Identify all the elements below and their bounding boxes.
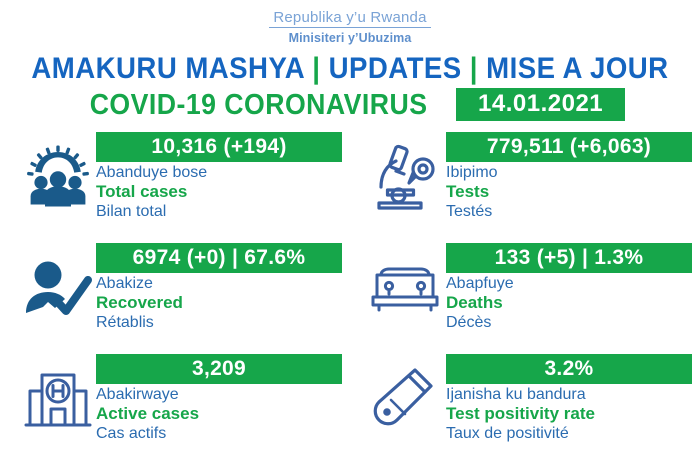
stat-text: 3.2% Ijanisha ku bandura Test positivity… [446,354,700,443]
stat-label-english: Active cases [96,404,342,424]
stat-label-kinyarwanda: Abakirwaye [96,385,342,404]
stat-label-english: Recovered [96,293,342,313]
stat-text: 10,316 (+194) Abanduye bose Total cases … [96,132,350,221]
stat-label-french: Rétablis [96,313,342,332]
stat-value: 3.2% [446,354,692,384]
stat-label-kinyarwanda: Abapfuye [446,274,692,293]
updates-title-line: AMAKURU MASHYA | UPDATES | MISE A JOUR [28,53,672,85]
subject-title: COVID-19 CORONAVIRUS [90,90,428,120]
people-virus-icon [0,132,96,218]
ministry-name: Minisiteri y’Ubuzima [0,31,700,46]
stat-label-kinyarwanda: Abakize [96,274,342,293]
stat-card-active-cases: 3,209 Abakirwaye Active cases Cas actifs [0,354,350,466]
stat-value: 133 (+5) | 1.3% [446,243,692,273]
microscope-icon [350,132,446,218]
person-check-icon [0,243,96,329]
stat-card-total-cases: 10,316 (+194) Abanduye bose Total cases … [0,132,350,243]
coffin-icon [350,243,446,329]
title-block: AMAKURU MASHYA | UPDATES | MISE A JOUR C… [0,53,700,121]
stat-row: 6974 (+0) | 67.6% Abakize Recovered Réta… [0,243,700,354]
stat-label-english: Test positivity rate [446,404,692,424]
stat-label-english: Deaths [446,293,692,313]
stat-card-tests: 779,511 (+6,063) Ibipimo Tests Testés [350,132,700,243]
stat-card-recovered: 6974 (+0) | 67.6% Abakize Recovered Réta… [0,243,350,354]
statistics-grid: 10,316 (+194) Abanduye bose Total cases … [0,132,700,466]
country-name: Republika y’u Rwanda [269,9,430,28]
title-separator-2: | [470,52,478,85]
test-tube-icon [350,354,446,440]
hospital-icon [0,354,96,440]
title-part-english: UPDATES [329,52,462,85]
stat-label-english: Total cases [96,182,342,202]
stat-text: 6974 (+0) | 67.6% Abakize Recovered Réta… [96,243,350,332]
title-part-french: MISE A JOUR [486,52,668,85]
subject-and-date-row: COVID-19 CORONAVIRUS 14.01.2021 [0,88,700,121]
date-badge: 14.01.2021 [456,88,625,121]
stat-value: 779,511 (+6,063) [446,132,692,162]
stat-label-french: Cas actifs [96,424,342,443]
stat-card-deaths: 133 (+5) | 1.3% Abapfuye Deaths Décès [350,243,700,354]
stat-label-kinyarwanda: Ibipimo [446,163,692,182]
stat-value: 3,209 [96,354,342,384]
stat-label-english: Tests [446,182,692,202]
stat-label-kinyarwanda: Abanduye bose [96,163,342,182]
stat-label-french: Bilan total [96,202,342,221]
stat-text: 3,209 Abakirwaye Active cases Cas actifs [96,354,350,443]
stat-card-positivity-rate: 3.2% Ijanisha ku bandura Test positivity… [350,354,700,466]
infographic-page: Republika y’u Rwanda Minisiteri y’Ubuzim… [0,0,700,467]
stat-row: 10,316 (+194) Abanduye bose Total cases … [0,132,700,243]
stat-label-french: Taux de positivité [446,424,692,443]
title-part-kinyarwanda: AMAKURU MASHYA [31,52,304,85]
stat-label-french: Testés [446,202,692,221]
stat-row: 3,209 Abakirwaye Active cases Cas actifs [0,354,700,466]
stat-value: 10,316 (+194) [96,132,342,162]
title-separator-1: | [312,52,320,85]
stat-label-kinyarwanda: Ijanisha ku bandura [446,385,692,404]
ministry-header: Republika y’u Rwanda Minisiteri y’Ubuzim… [0,0,700,46]
stat-label-french: Décès [446,313,692,332]
stat-text: 133 (+5) | 1.3% Abapfuye Deaths Décès [446,243,700,332]
stat-value: 6974 (+0) | 67.6% [96,243,342,273]
stat-text: 779,511 (+6,063) Ibipimo Tests Testés [446,132,700,221]
